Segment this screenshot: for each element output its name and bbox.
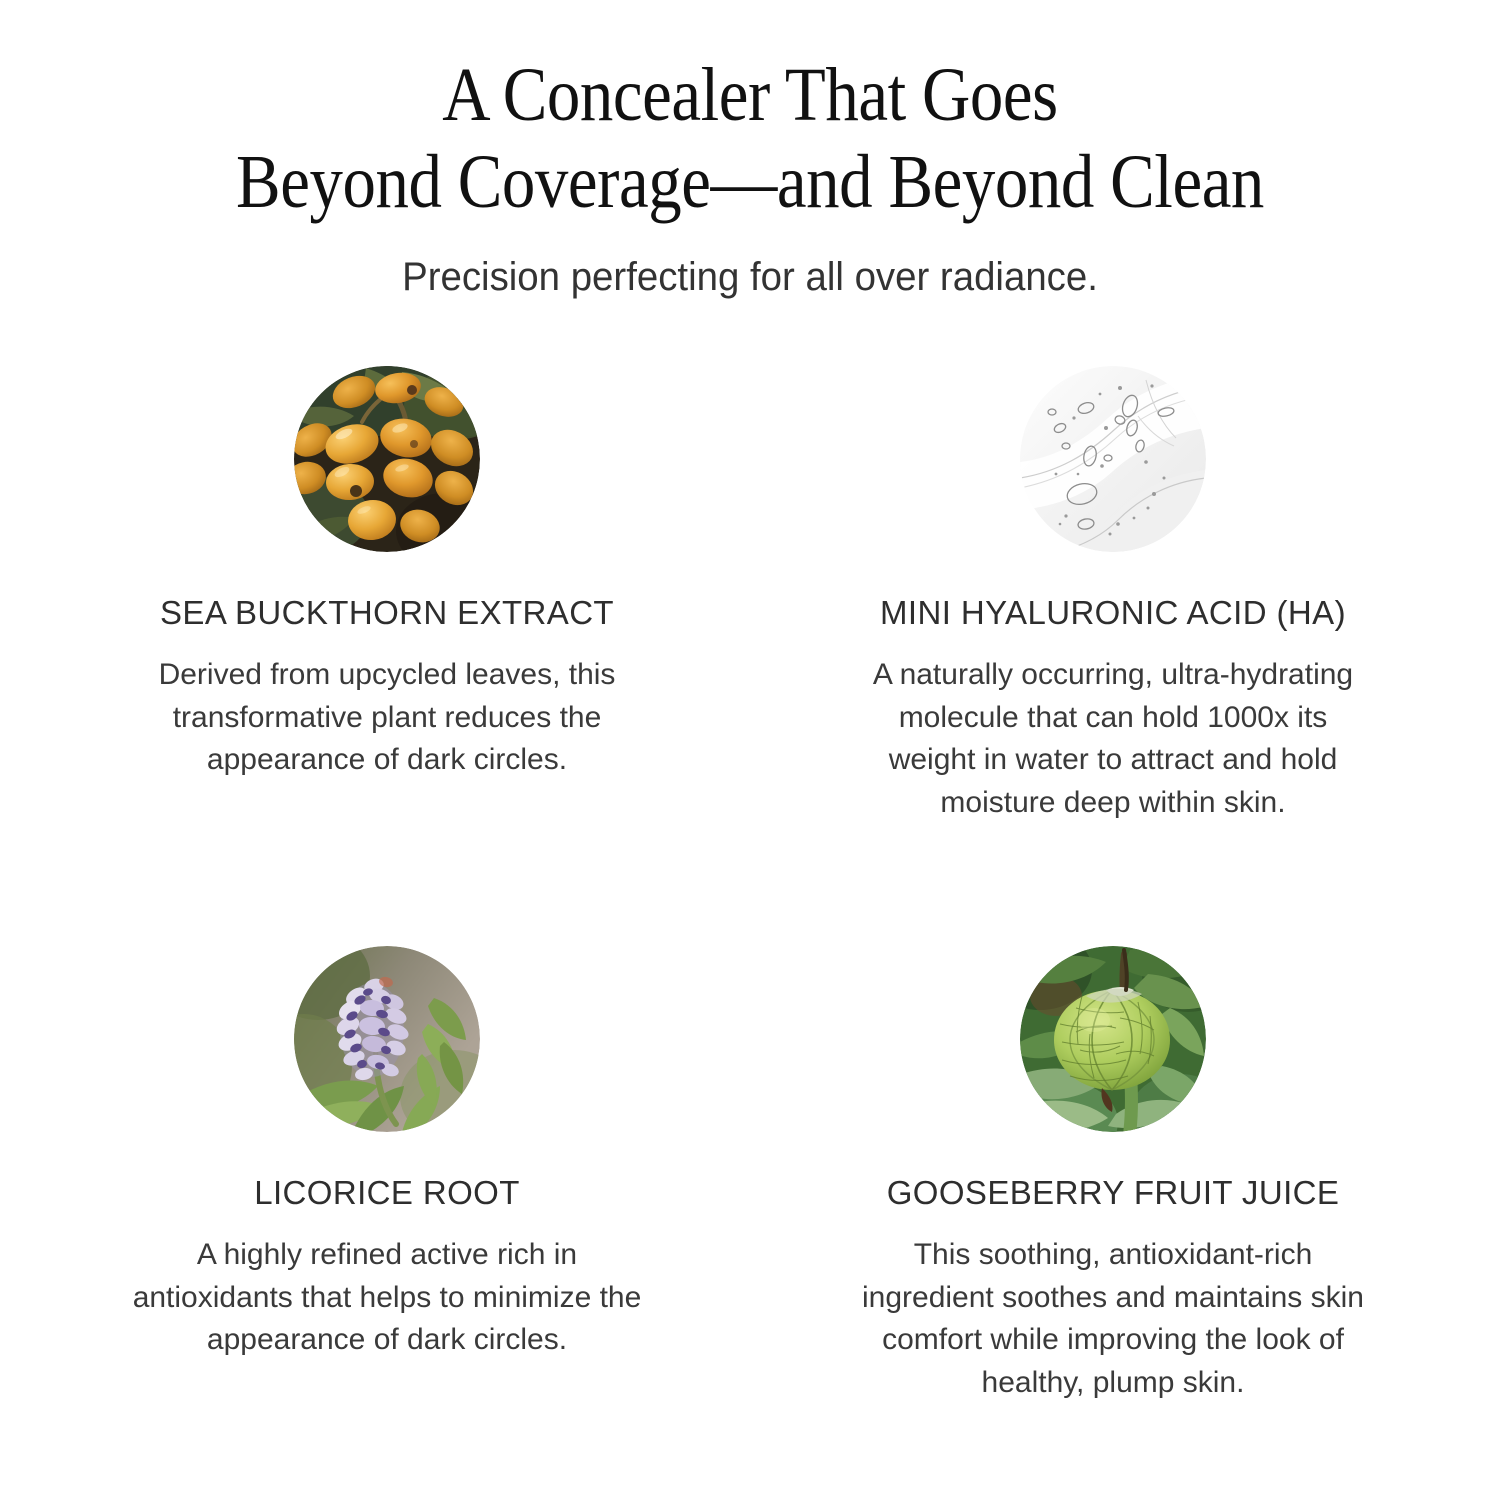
ingredient-description: Derived from upcycled leaves, this trans… <box>127 654 647 782</box>
ingredient-card-hyaluronic-acid: MINI HYALURONIC ACID (HA) A naturally oc… <box>750 366 1500 824</box>
ingredient-description: A highly refined active rich in antioxid… <box>127 1234 647 1362</box>
sea-buckthorn-berries-photo <box>294 366 480 552</box>
ingredient-card-sea-buckthorn: SEA BUCKTHORN EXTRACT Derived from upcyc… <box>0 366 750 824</box>
licorice-root-flower-photo <box>294 946 480 1132</box>
page-title-line-2: Beyond Coverage—and Beyond Clean <box>90 139 1410 226</box>
ingredient-benefits-page: A Concealer That Goes Beyond Coverage—an… <box>0 0 1500 1500</box>
ingredient-name: MINI HYALURONIC ACID (HA) <box>880 594 1346 632</box>
page-subtitle: Precision perfecting for all over radian… <box>30 253 1470 301</box>
page-header: A Concealer That Goes Beyond Coverage—an… <box>0 0 1500 301</box>
page-title: A Concealer That Goes Beyond Coverage—an… <box>90 52 1410 225</box>
page-title-line-1: A Concealer That Goes <box>90 52 1410 139</box>
gooseberry-husk-fruit-photo <box>1020 946 1206 1132</box>
ingredient-card-licorice-root: LICORICE ROOT A highly refined active ri… <box>0 946 750 1404</box>
ingredient-grid: SEA BUCKTHORN EXTRACT Derived from upcyc… <box>0 366 1500 1405</box>
hyaluronic-acid-gel-texture-photo <box>1020 366 1206 552</box>
ingredient-name: LICORICE ROOT <box>254 1174 520 1212</box>
ingredient-description: This soothing, antioxidant-rich ingredie… <box>853 1234 1373 1404</box>
ingredient-name: GOOSEBERRY FRUIT JUICE <box>887 1174 1340 1212</box>
ingredient-description: A naturally occurring, ultra-hydrating m… <box>853 654 1373 824</box>
ingredient-name: SEA BUCKTHORN EXTRACT <box>160 594 614 632</box>
ingredient-card-gooseberry: GOOSEBERRY FRUIT JUICE This soothing, an… <box>750 946 1500 1404</box>
